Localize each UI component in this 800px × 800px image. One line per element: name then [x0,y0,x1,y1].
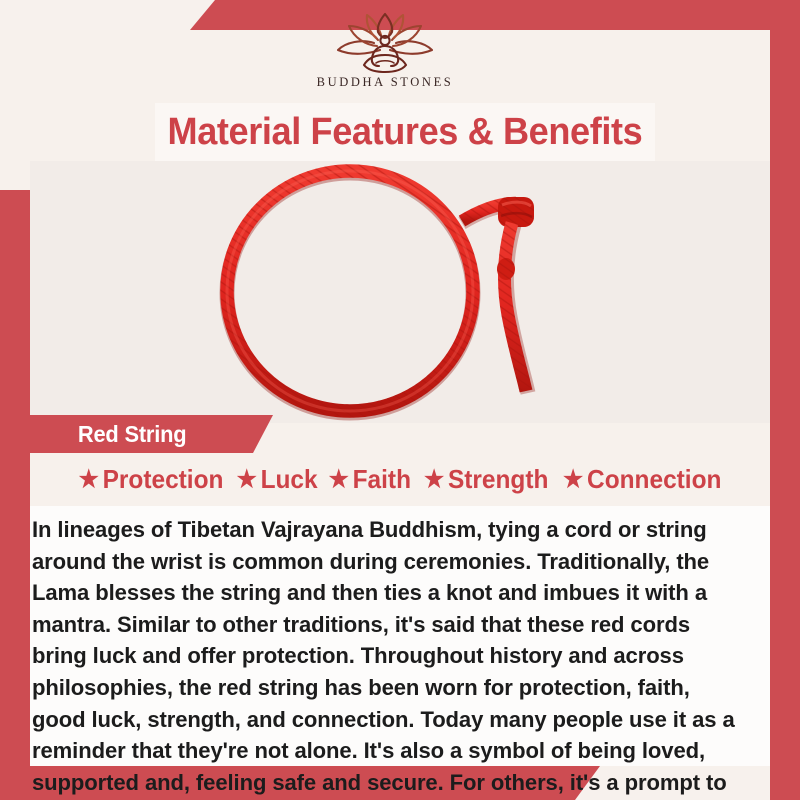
description-text: In lineages of Tibetan Vajrayana Buddhis… [32,514,745,800]
benefit-label: Faith [352,464,410,495]
benefit-label: Luck [260,464,317,495]
description-block: In lineages of Tibetan Vajrayana Buddhis… [30,506,770,766]
product-label: Red String [78,421,187,448]
frame-left-bar [0,190,30,800]
brand-header: BUDDHA STONES [0,8,770,103]
benefit-label: Strength [447,464,547,495]
benefit-protection: ★ Protection [75,464,225,495]
brand-name: BUDDHA STONES [317,75,454,90]
frame-right-bar [770,0,800,800]
star-icon: ★ [423,468,443,492]
benefit-label: Connection [587,464,721,495]
star-icon: ★ [329,468,349,492]
infographic-card: BUDDHA STONES Material Features & Benefi… [0,0,800,800]
star-icon: ★ [236,468,256,492]
benefit-strength: ★ Strength [421,464,551,495]
benefit-connection: ★ Connection [560,464,724,495]
page-title: Material Features & Benefits [168,111,643,154]
product-label-banner: Red String [18,415,273,453]
benefit-label: Protection [102,464,223,495]
star-icon: ★ [78,468,98,492]
title-banner: Material Features & Benefits [155,103,655,161]
star-icon: ★ [563,468,583,492]
product-image [30,161,770,423]
benefit-faith: ★ Faith [326,464,414,495]
lotus-meditation-figure-icon [324,8,446,74]
benefit-luck: ★ Luck [233,464,320,495]
benefits-row: ★ Protection ★ Luck ★ Faith ★ Strength ★… [30,464,770,495]
